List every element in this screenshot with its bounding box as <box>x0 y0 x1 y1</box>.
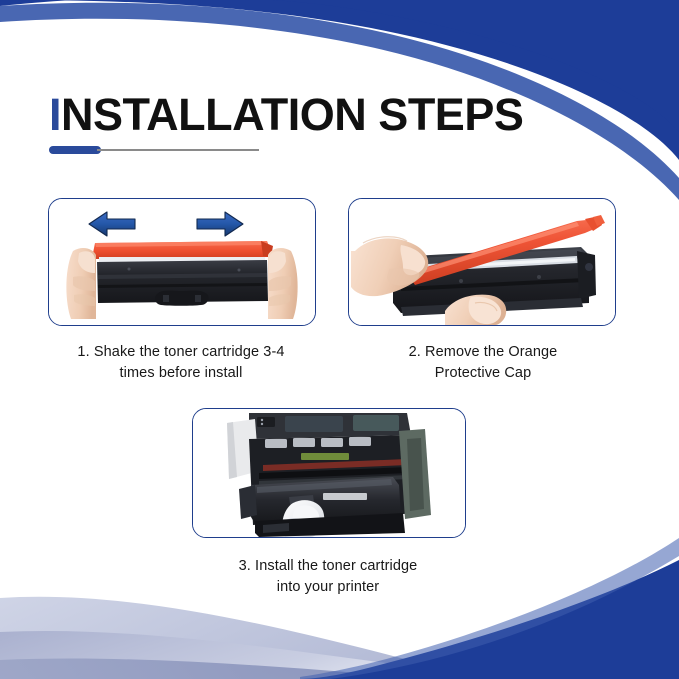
toner-cartridge-orange-cap <box>93 241 273 259</box>
step-3-caption-line-1: 3. Install the toner cartridge <box>175 556 481 577</box>
bottom-wave-mid <box>0 631 520 679</box>
step-2-image-panel <box>348 198 616 326</box>
page-title-block: INSTALLATION STEPS <box>49 92 609 137</box>
left-hand <box>66 248 96 319</box>
step-2-caption-line-1: 2. Remove the Orange <box>330 342 636 363</box>
page-title: INSTALLATION STEPS <box>49 92 609 137</box>
step-1-caption: 1. Shake the toner cartridge 3-4 times b… <box>28 342 334 384</box>
step-2-caption: 2. Remove the Orange Protective Cap <box>330 342 636 384</box>
right-navy-edge <box>658 150 679 320</box>
right-hand <box>268 248 298 319</box>
step-1-illustration <box>49 199 315 325</box>
installation-steps-page: INSTALLATION STEPS <box>0 0 679 679</box>
step-2-caption-line-2: Protective Cap <box>330 363 636 384</box>
toner-cartridge-handle <box>155 291 209 306</box>
step-1-image-panel <box>48 198 316 326</box>
bottom-wave-dark <box>0 659 430 679</box>
step-1-caption-line-2: times before install <box>28 363 334 384</box>
step-3-image-panel <box>192 408 466 538</box>
step-1-caption-line-1: 1. Shake the toner cartridge 3-4 <box>28 342 334 363</box>
step-3-caption: 3. Install the toner cartridge into your… <box>175 556 481 598</box>
page-title-rest: NSTALLATION STEPS <box>61 89 523 140</box>
title-underline-bar <box>49 146 101 154</box>
step-3-illustration <box>193 409 465 537</box>
page-title-accent-letter: I <box>49 89 61 140</box>
title-underline-line <box>97 149 259 151</box>
bottom-wave-light <box>0 597 470 679</box>
step-2-illustration <box>349 199 615 325</box>
step-3-caption-line-2: into your printer <box>175 577 481 598</box>
printer-top-lid <box>249 413 411 439</box>
title-underline <box>49 146 259 154</box>
